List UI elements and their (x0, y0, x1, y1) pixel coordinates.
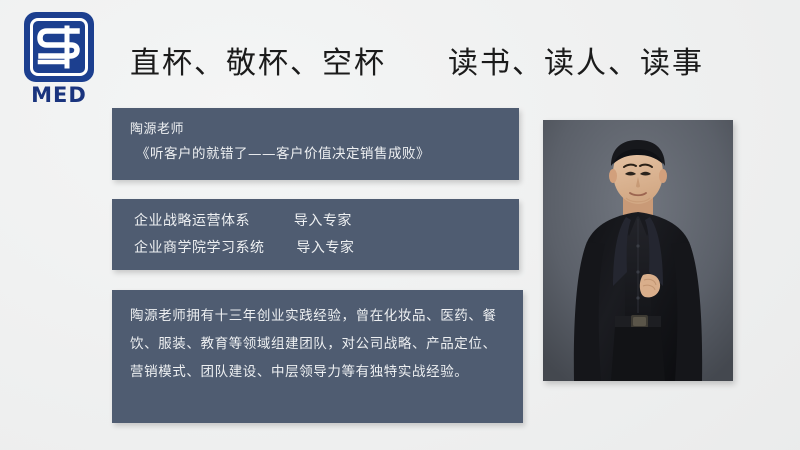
expertise-row-2-title: 企业商学院学习系统 (134, 240, 265, 256)
biography-panel: 陶源老师拥有十三年创业实践经验，曾在化妆品、医药、餐饮、服装、教育等领域组建团队… (112, 290, 523, 423)
s-monogram-icon (24, 12, 94, 82)
page-title-right: 读书、读人、读事 (448, 38, 704, 82)
expertise-row-2-role: 导入专家 (296, 240, 354, 256)
page-title: 直杯、敬杯、空杯 读书、读人、读事 (130, 34, 730, 86)
brand-logo: MED (18, 12, 100, 104)
speaker-name: 陶源老师 (130, 117, 519, 142)
expertise-panel: 企业战略运营体系 导入专家 企业商学院学习系统 导入专家 (112, 199, 519, 270)
logo-wordmark: MED (18, 84, 100, 106)
credential-panel: 陶源老师 《听客户的就错了——客户价值决定销售成败》 (112, 108, 519, 180)
expertise-row-1: 企业战略运营体系 导入专家 (134, 208, 519, 235)
slide-canvas: MED 直杯、敬杯、空杯 读书、读人、读事 陶源老师 《听客户的就错了——客户价… (0, 0, 800, 450)
logo-s-glyph-icon (37, 24, 81, 70)
speaker-portrait-photo (543, 120, 733, 381)
biography-text: 陶源老师拥有十三年创业实践经验，曾在化妆品、医药、餐饮、服装、教育等领域组建团队… (130, 302, 507, 386)
page-title-left: 直杯、敬杯、空杯 (130, 38, 386, 82)
expertise-row-1-title: 企业战略运营体系 (134, 213, 250, 229)
book-title: 《听客户的就错了——客户价值决定销售成败》 (130, 142, 519, 167)
expertise-row-2: 企业商学院学习系统 导入专家 (134, 235, 519, 262)
expertise-row-1-role: 导入专家 (294, 213, 352, 229)
